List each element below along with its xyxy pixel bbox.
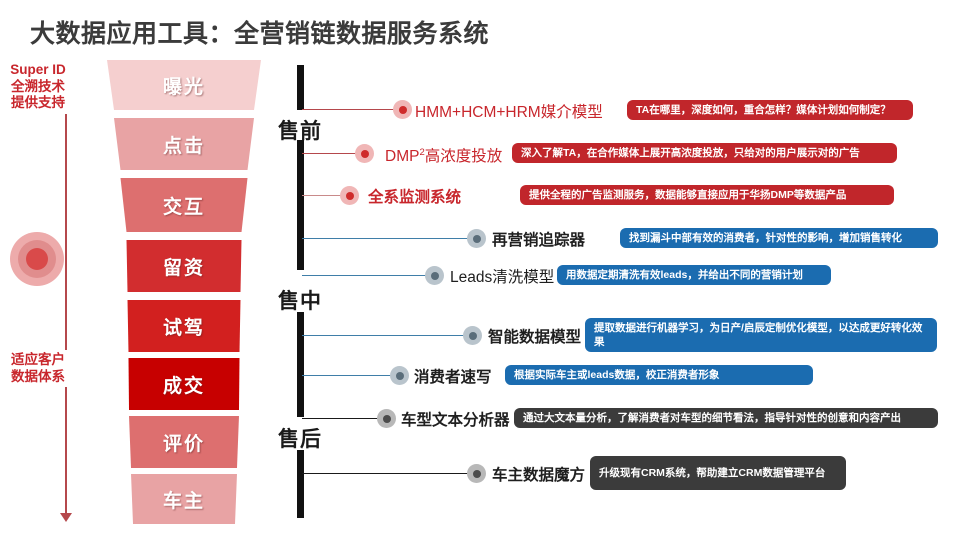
super-id-axis xyxy=(28,60,104,522)
callout-pill[interactable]: 通过大文本量分析，了解消费者对车型的细节看法，指导针对性的创意和内容产出 xyxy=(514,408,938,428)
connector-line xyxy=(302,335,464,336)
timeline-bar xyxy=(297,65,304,110)
node-dot-icon[interactable] xyxy=(377,409,396,428)
item-title[interactable]: DMP2高浓度投放 xyxy=(385,144,502,166)
target-ring-middle xyxy=(18,240,56,278)
timeline-bar xyxy=(297,312,304,417)
connector-line xyxy=(302,153,356,154)
node-dot-icon[interactable] xyxy=(467,464,486,483)
item-title[interactable]: Leads清洗模型 xyxy=(450,265,554,287)
node-dot-icon[interactable] xyxy=(355,144,374,163)
funnel-stage-label: 曝光 xyxy=(163,72,205,99)
funnel-stage[interactable]: 试驾 xyxy=(104,300,264,352)
axis-label-top-line-1: Super ID xyxy=(0,62,76,79)
axis-label-top: Super ID 全溯技术 提供支持 xyxy=(0,60,76,114)
funnel-stage[interactable]: 车主 xyxy=(104,474,264,524)
arrow-down-icon xyxy=(60,513,72,522)
marketing-funnel: 曝光点击交互留资试驾成交评价车主 xyxy=(104,60,264,524)
node-dot-center xyxy=(473,470,481,478)
connector-line xyxy=(302,473,468,474)
callout-pill[interactable]: 提取数据进行机器学习，为日产/启辰定制优化模型，以达成更好转化效果 xyxy=(585,318,937,352)
item-title-text: DMP xyxy=(385,148,419,165)
callout-pill[interactable]: 用数据定期清洗有效leads，并给出不同的营销计划 xyxy=(557,265,831,285)
timeline-bar xyxy=(297,140,304,270)
callout-pill[interactable]: 提供全程的广告监测服务，数据能够直接应用于华扬DMP等数据产品 xyxy=(520,185,894,205)
axis-line xyxy=(65,68,67,514)
callout-pill[interactable]: 深入了解TA，在合作媒体上展开高浓度投放，只给对的用户展示对的广告 xyxy=(512,143,897,163)
phase-label: 售中 xyxy=(278,285,322,315)
node-dot-center xyxy=(396,372,404,380)
funnel-stage-label: 留资 xyxy=(163,253,205,280)
node-dot-icon[interactable] xyxy=(463,326,482,345)
node-dot-icon[interactable] xyxy=(393,100,412,119)
node-dot-icon[interactable] xyxy=(425,266,444,285)
callout-pill[interactable]: 根据实际车主或leads数据，校正消费者形象 xyxy=(505,365,813,385)
connector-line xyxy=(302,275,426,276)
axis-label-top-line-2: 全溯技术 xyxy=(0,79,76,96)
connector-line xyxy=(302,238,468,239)
funnel-stage[interactable]: 成交 xyxy=(104,358,264,410)
connector-line xyxy=(302,375,391,376)
node-dot-center xyxy=(361,150,369,158)
node-dot-icon[interactable] xyxy=(467,229,486,248)
funnel-stage-label: 车主 xyxy=(163,486,205,513)
node-dot-center xyxy=(431,272,439,280)
funnel-stage-label: 交互 xyxy=(163,192,205,219)
funnel-stage-label: 点击 xyxy=(163,131,205,158)
connector-line xyxy=(302,195,341,196)
item-title[interactable]: 车型文本分析器 xyxy=(401,408,510,430)
slide-canvas: 大数据应用工具：全营销链数据服务系统 Super ID 全溯技术 提供支持 适应… xyxy=(0,0,960,540)
node-dot-center xyxy=(383,415,391,423)
timeline-bar xyxy=(297,450,304,518)
item-title[interactable]: 全系监测系统 xyxy=(368,185,461,207)
funnel-stage[interactable]: 点击 xyxy=(104,118,264,170)
funnel-stage-label: 评价 xyxy=(163,429,205,456)
page-title: 大数据应用工具：全营销链数据服务系统 xyxy=(30,14,489,50)
item-title[interactable]: 车主数据魔方 xyxy=(492,463,585,485)
funnel-stage-label: 成交 xyxy=(163,371,205,398)
funnel-stage[interactable]: 曝光 xyxy=(104,60,264,110)
target-ring-inner xyxy=(26,248,48,270)
item-title-text-tail: 高浓度投放 xyxy=(425,148,503,165)
funnel-stage[interactable]: 留资 xyxy=(104,240,264,292)
node-dot-center xyxy=(473,235,481,243)
node-dot-icon[interactable] xyxy=(340,186,359,205)
node-dot-icon[interactable] xyxy=(390,366,409,385)
node-dot-center xyxy=(399,106,407,114)
funnel-stage[interactable]: 评价 xyxy=(104,416,264,468)
item-title[interactable]: 消费者速写 xyxy=(414,365,492,387)
callout-pill[interactable]: 找到漏斗中部有效的消费者，针对性的影响，增加销售转化 xyxy=(620,228,938,248)
funnel-stage[interactable]: 交互 xyxy=(104,178,264,232)
item-title[interactable]: HMM+HCM+HRM媒介模型 xyxy=(415,100,603,122)
node-dot-center xyxy=(469,332,477,340)
funnel-stage-label: 试驾 xyxy=(163,313,205,340)
connector-line xyxy=(302,109,394,110)
phase-label: 售前 xyxy=(278,115,322,145)
phase-label: 售后 xyxy=(278,423,322,453)
item-title[interactable]: 再营销追踪器 xyxy=(492,228,585,250)
callout-pill[interactable]: 升级现有CRM系统，帮助建立CRM数据管理平台 xyxy=(590,456,846,490)
callout-pill[interactable]: TA在哪里，深度如何，重合怎样？媒体计划如何制定？ xyxy=(627,100,913,120)
axis-label-bottom: 适应客户 数据体系 xyxy=(0,350,76,387)
target-circles-icon xyxy=(10,232,64,286)
connector-line xyxy=(302,418,378,419)
axis-label-top-line-3: 提供支持 xyxy=(0,95,76,112)
item-title[interactable]: 智能数据模型 xyxy=(488,325,581,347)
axis-label-bottom-line-1: 适应客户 xyxy=(0,352,76,369)
axis-label-bottom-line-2: 数据体系 xyxy=(0,369,76,386)
node-dot-center xyxy=(346,192,354,200)
